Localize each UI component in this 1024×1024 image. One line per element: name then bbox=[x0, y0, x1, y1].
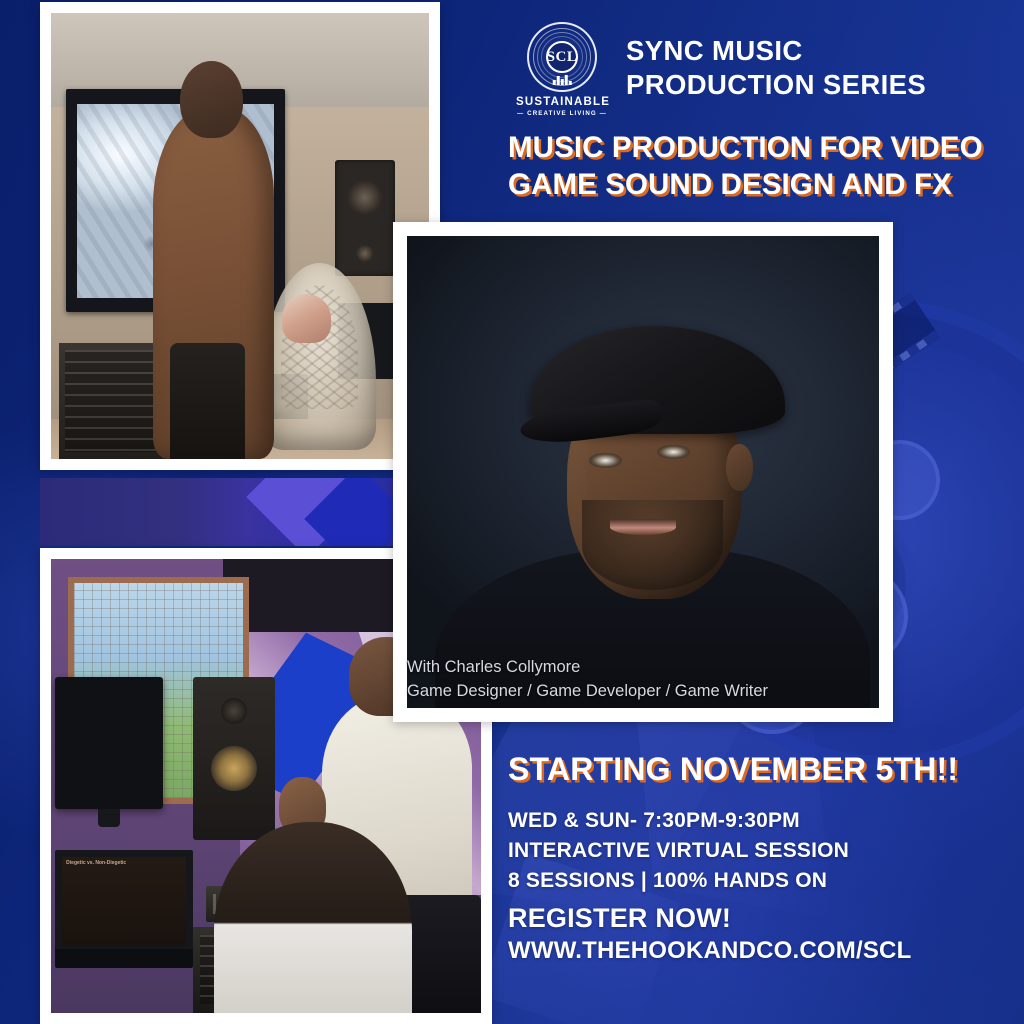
registration-url[interactable]: WWW.THEHOOKANDCO.COM/SCL bbox=[508, 937, 1008, 965]
equalizer-bars-icon bbox=[553, 74, 572, 85]
speaker-portrait-image bbox=[407, 236, 879, 708]
schedule-days-time: WED & SUN- 7:30PM-9:30PM bbox=[508, 806, 1008, 836]
beard bbox=[582, 500, 724, 590]
computer-monitor bbox=[55, 677, 163, 809]
brand-header: SCL SUSTAINABLE — CREATIVE LIVING — SYNC… bbox=[516, 18, 1016, 117]
laptop: Diegetic vs. Non-Diegetic bbox=[55, 850, 193, 968]
logo-tagline: — CREATIVE LIVING — bbox=[516, 110, 608, 117]
logo-initials: SCL bbox=[547, 49, 578, 66]
logo-wordmark: SUSTAINABLE bbox=[516, 96, 608, 108]
headline: MUSIC PRODUCTION FOR VIDEO GAME SOUND DE… bbox=[508, 130, 1008, 203]
speaker-name: With Charles Collymore bbox=[407, 656, 879, 680]
speaker-caption: With Charles Collymore Game Designer / G… bbox=[407, 656, 879, 704]
studio-monitor-speaker bbox=[193, 677, 275, 840]
series-title: SYNC MUSIC PRODUCTION SERIES bbox=[626, 18, 998, 101]
promotional-flyer: Diegetic vs. Non-Diegetic With Charles C… bbox=[0, 0, 1024, 1024]
standing-presenter bbox=[153, 107, 274, 459]
eye-left bbox=[589, 453, 622, 468]
ear bbox=[726, 444, 752, 491]
logo-center-disc: SCL bbox=[546, 41, 578, 73]
studio-session-image bbox=[51, 13, 429, 459]
schedule-details: WED & SUN- 7:30PM-9:30PM INTERACTIVE VIR… bbox=[508, 806, 1008, 897]
schedule-format: INTERACTIVE VIRTUAL SESSION bbox=[508, 836, 1008, 866]
photo-speaker-portrait: With Charles Collymore Game Designer / G… bbox=[393, 222, 893, 722]
photo-top-left bbox=[40, 2, 440, 470]
studio-monitor-speaker bbox=[335, 160, 395, 276]
geometric-divider-band bbox=[40, 478, 440, 546]
seated-person-head bbox=[282, 294, 331, 343]
schedule-sessions: 8 SESSIONS | 100% HANDS ON bbox=[508, 866, 1008, 896]
speaker-roles: Game Designer / Game Developer / Game Wr… bbox=[407, 680, 879, 704]
scl-logo: SCL SUSTAINABLE — CREATIVE LIVING — bbox=[516, 18, 608, 117]
call-to-action: REGISTER NOW! WWW.THEHOOKANDCO.COM/SCL bbox=[508, 903, 1008, 965]
laptop-slide-text: Diegetic vs. Non-Diegetic bbox=[62, 857, 186, 947]
start-date: STARTING NOVEMBER 5TH!! bbox=[508, 751, 1008, 788]
scl-circular-logo-icon: SCL bbox=[527, 22, 597, 92]
register-now-label: REGISTER NOW! bbox=[508, 903, 1008, 934]
